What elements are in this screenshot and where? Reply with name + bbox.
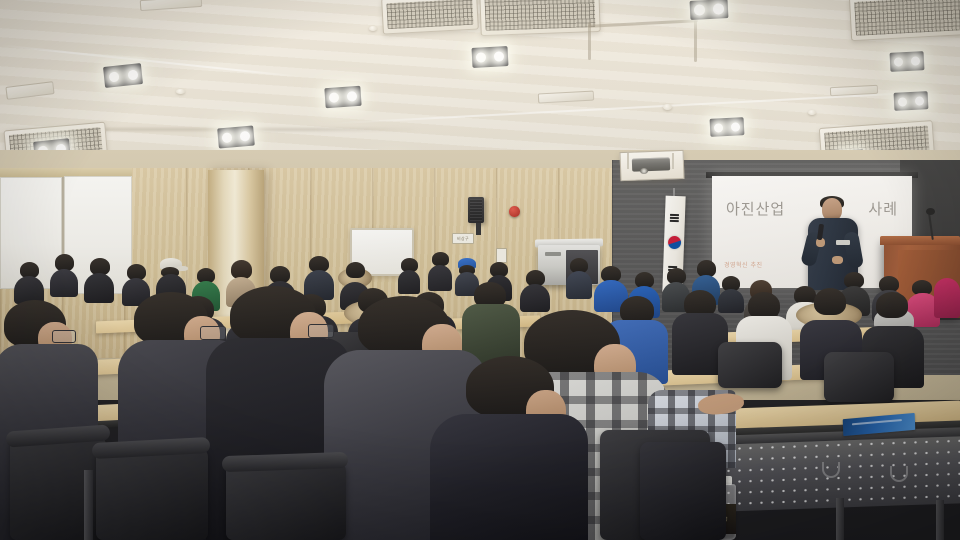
list-item [50, 254, 78, 294]
av-cart-slot [545, 252, 561, 256]
ceiling-projector [632, 157, 670, 171]
presenter-name-badge [836, 240, 850, 245]
desk-leg [836, 498, 844, 540]
slide-title-left: 아진산업 [726, 198, 785, 219]
projector-mount-rod [627, 153, 629, 169]
slide-subtitle-left: 경영혁신 추진 [724, 260, 763, 269]
ceiling-ac-cassette [381, 0, 479, 34]
smoke-detector [369, 26, 377, 31]
list-item [934, 272, 960, 318]
recessed-downlight [217, 125, 255, 148]
smoke-detector [176, 89, 185, 94]
ceiling-groove [694, 20, 697, 62]
list-item [14, 262, 44, 302]
projector-lens [640, 168, 648, 174]
wall-sign: 비상구 [452, 233, 474, 244]
recessed-downlight [894, 91, 929, 111]
presenter-hand-open [832, 256, 843, 264]
ceiling-ac-cassette [479, 0, 600, 36]
mesh-office-chair[interactable] [718, 342, 782, 388]
wall-speaker [468, 197, 484, 223]
glasses [52, 330, 76, 343]
ceiling-groove [588, 22, 591, 60]
desk-leg [936, 500, 944, 540]
ceiling-ac-cassette [849, 0, 960, 41]
list-item [84, 258, 114, 300]
recessed-downlight [324, 86, 361, 108]
taeguk-symbol [668, 236, 681, 249]
seminar-room-photo: 비상구 아진산업 사례 경영혁신 추진 기업 [0, 0, 960, 540]
list-item [520, 270, 550, 310]
podium-top [880, 236, 960, 245]
recessed-downlight [690, 0, 729, 20]
smoke-detector [663, 104, 672, 110]
list-item [398, 258, 420, 292]
list-item [428, 252, 452, 290]
speaker-bracket [476, 223, 481, 235]
list-item [566, 258, 592, 296]
slide-title-right: 사례 [868, 198, 898, 219]
mesh-office-chair[interactable] [96, 448, 208, 540]
recessed-downlight [472, 46, 509, 68]
microphone-head [926, 208, 935, 215]
recessed-downlight [710, 117, 745, 137]
projector-mount-rod [672, 153, 674, 169]
chair-post [84, 470, 93, 540]
mesh-office-chair[interactable] [640, 442, 726, 540]
trigram-geon [670, 214, 679, 222]
smoke-detector [808, 110, 816, 115]
fire-alarm-bell [509, 206, 520, 217]
mesh-office-chair[interactable] [226, 462, 346, 540]
mesh-office-chair[interactable] [824, 352, 894, 402]
light-switch[interactable] [496, 248, 507, 263]
list-item [430, 356, 590, 540]
recessed-downlight [890, 51, 925, 72]
recessed-downlight [103, 63, 143, 88]
wall-sign-text: 비상구 [457, 236, 469, 242]
